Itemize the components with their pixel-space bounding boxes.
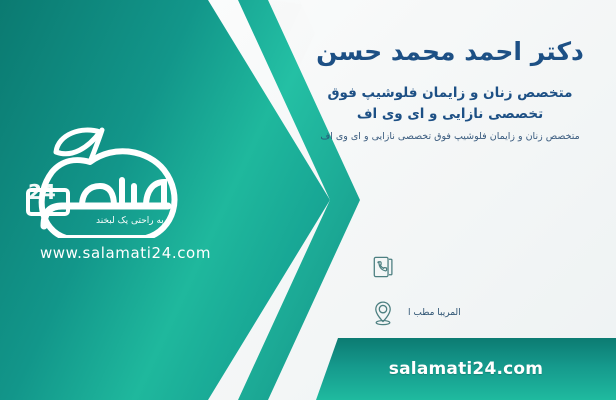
contact-row-phone[interactable] [368, 250, 598, 284]
banner-website-text: salamati24.com [389, 359, 543, 379]
doctor-specialty-primary: متخصص زنان و زایمان فلوشیپ فوق تخصصی ناز… [300, 83, 600, 125]
salamati24-logo: 24 به راحتی یک لبخند www.salamati24.com [18, 118, 233, 278]
website-banner[interactable]: salamati24.com [316, 338, 616, 400]
business-card: 24 به راحتی یک لبخند www.salamati24.com … [0, 0, 616, 400]
contact-list: المريبا مطب ا [368, 250, 598, 342]
phone-book-icon [368, 250, 398, 284]
doctor-name: دکتر احمد محمد حسن [300, 36, 600, 67]
map-pin-icon [368, 296, 398, 330]
contact-row-address[interactable]: المريبا مطب ا [368, 296, 598, 330]
logo-badge-24: 24 [28, 180, 56, 204]
contact-label-address: المريبا مطب ا [408, 308, 461, 318]
doctor-info-block: دکتر احمد محمد حسن متخصص زنان و زایمان ف… [300, 36, 600, 145]
logo-website-url: www.salamati24.com [18, 244, 233, 262]
logo-tagline: به راحتی یک لبخند [96, 216, 216, 226]
doctor-specialty-secondary: متخصص زنان و زایمان فلوشیپ فوق تخصصی ناز… [300, 129, 600, 145]
